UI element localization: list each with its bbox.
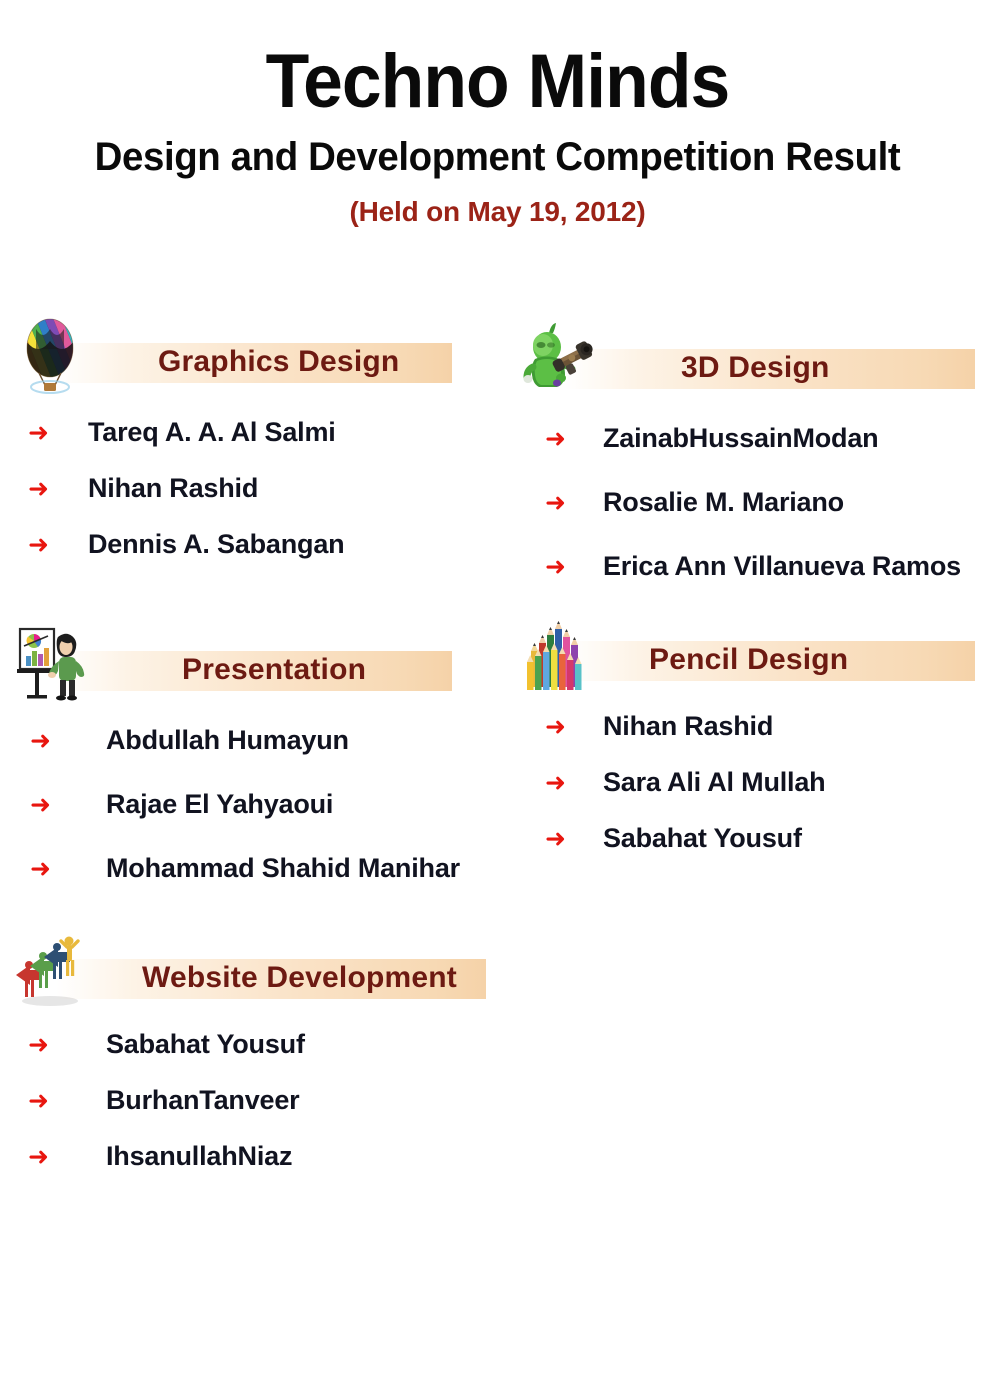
- list-item: ➜ Rosalie M. Mariano: [523, 470, 993, 534]
- arrow-bullet-icon: ➜: [28, 420, 58, 445]
- page-title: Techno Minds: [30, 44, 965, 120]
- arrow-bullet-icon: ➜: [28, 476, 58, 501]
- winner-list-website-development: ➜ Sabahat Yousuf ➜ BurhanTanveer ➜ Ihsan…: [14, 1002, 504, 1184]
- list-item: ➜ ZainabHussainModan: [523, 406, 993, 470]
- arrow-bullet-icon: ➜: [28, 1032, 58, 1057]
- winner-list-3d-design: ➜ ZainabHussainModan ➜ Rosalie M. Marian…: [523, 392, 993, 598]
- winner-list-presentation: ➜ Abdullah Humayun ➜ Rajae El Yahyaoui ➜…: [14, 694, 494, 900]
- hot-air-balloon-icon: [14, 315, 86, 395]
- section-title: Pencil Design: [649, 643, 848, 677]
- arrow-bullet-icon: ➜: [545, 554, 575, 579]
- winner-name: Mohammad Shahid Manihar: [106, 853, 460, 884]
- arrow-bullet-icon: ➜: [30, 856, 60, 881]
- list-item: ➜ IhsanullahNiaz: [14, 1128, 504, 1184]
- poster-header: Techno Minds Design and Development Comp…: [0, 0, 995, 228]
- arrow-bullet-icon: ➜: [545, 714, 575, 739]
- winner-name: Rosalie M. Mariano: [603, 487, 844, 518]
- list-item: ➜ Nihan Rashid: [14, 460, 494, 516]
- presenter-flipchart-icon: [14, 623, 86, 703]
- list-item: ➜ Mohammad Shahid Manihar: [14, 836, 494, 900]
- winner-name: Erica Ann Villanueva Ramos: [603, 551, 961, 582]
- winner-name: ZainabHussainModan: [603, 423, 878, 454]
- section-title: Website Development: [142, 961, 457, 995]
- arrow-bullet-icon: ➜: [28, 1144, 58, 1169]
- section-graphics-design: Graphics Design ➜ Tareq A. A. Al Salmi ➜…: [14, 338, 494, 572]
- list-item: ➜ Dennis A. Sabangan: [14, 516, 494, 572]
- winner-name: Dennis A. Sabangan: [88, 529, 344, 560]
- page-subtitle: Design and Development Competition Resul…: [20, 136, 975, 178]
- colored-pencils-icon: [523, 613, 595, 693]
- list-item: ➜ Nihan Rashid: [523, 698, 993, 754]
- arrow-bullet-icon: ➜: [545, 826, 575, 851]
- section-title: Graphics Design: [158, 345, 399, 379]
- winner-name: Sabahat Yousuf: [603, 823, 802, 854]
- section-title: Presentation: [182, 653, 366, 687]
- winner-name: Sara Ali Al Mullah: [603, 767, 825, 798]
- list-item: ➜ Sabahat Yousuf: [14, 1016, 504, 1072]
- teamwork-arrows-icon: [14, 931, 86, 1011]
- list-item: ➜ Tareq A. A. Al Salmi: [14, 404, 494, 460]
- winner-list-graphics-design: ➜ Tareq A. A. Al Salmi ➜ Nihan Rashid ➜ …: [14, 386, 494, 572]
- winner-list-pencil-design: ➜ Nihan Rashid ➜ Sara Ali Al Mullah ➜ Sa…: [523, 684, 993, 866]
- winner-name: Nihan Rashid: [88, 473, 258, 504]
- section-title: 3D Design: [681, 351, 830, 385]
- section-header-pencil-design: Pencil Design: [523, 636, 993, 684]
- arrow-bullet-icon: ➜: [545, 490, 575, 515]
- list-item: ➜ Erica Ann Villanueva Ramos: [523, 534, 993, 598]
- arrow-bullet-icon: ➜: [30, 792, 60, 817]
- arrow-bullet-icon: ➜: [28, 1088, 58, 1113]
- arrow-bullet-icon: ➜: [30, 728, 60, 753]
- list-item: ➜ Rajae El Yahyaoui: [14, 772, 494, 836]
- winner-name: Rajae El Yahyaoui: [106, 789, 333, 820]
- winner-name: Nihan Rashid: [603, 711, 773, 742]
- arrow-bullet-icon: ➜: [545, 770, 575, 795]
- arrow-bullet-icon: ➜: [28, 532, 58, 557]
- list-item: ➜ BurhanTanveer: [14, 1072, 504, 1128]
- list-item: ➜ Abdullah Humayun: [14, 708, 494, 772]
- poster-page: Techno Minds Design and Development Comp…: [0, 0, 995, 1377]
- section-presentation: Presentation ➜ Abdullah Humayun ➜ Rajae …: [14, 646, 494, 900]
- event-date: (Held on May 19, 2012): [0, 196, 995, 228]
- section-pencil-design: Pencil Design ➜ Nihan Rashid ➜ Sara Ali …: [523, 636, 993, 866]
- section-3d-design: 3D Design ➜ ZainabHussainModan ➜ Rosalie…: [523, 344, 993, 598]
- list-item: ➜ Sabahat Yousuf: [523, 810, 993, 866]
- section-header-graphics-design: Graphics Design: [14, 338, 494, 386]
- section-header-3d-design: 3D Design: [523, 344, 993, 392]
- list-item: ➜ Sara Ali Al Mullah: [523, 754, 993, 810]
- winner-name: Tareq A. A. Al Salmi: [88, 417, 336, 448]
- section-website-development: Website Development ➜ Sabahat Yousuf ➜ B…: [14, 954, 504, 1184]
- section-header-presentation: Presentation: [14, 646, 494, 694]
- winner-name: BurhanTanveer: [106, 1085, 299, 1116]
- winner-name: Sabahat Yousuf: [106, 1029, 305, 1060]
- winner-name: IhsanullahNiaz: [106, 1141, 292, 1172]
- section-header-website-development: Website Development: [14, 954, 504, 1002]
- arrow-bullet-icon: ➜: [545, 426, 575, 451]
- green-alien-character-icon: [523, 321, 595, 401]
- winner-name: Abdullah Humayun: [106, 725, 349, 756]
